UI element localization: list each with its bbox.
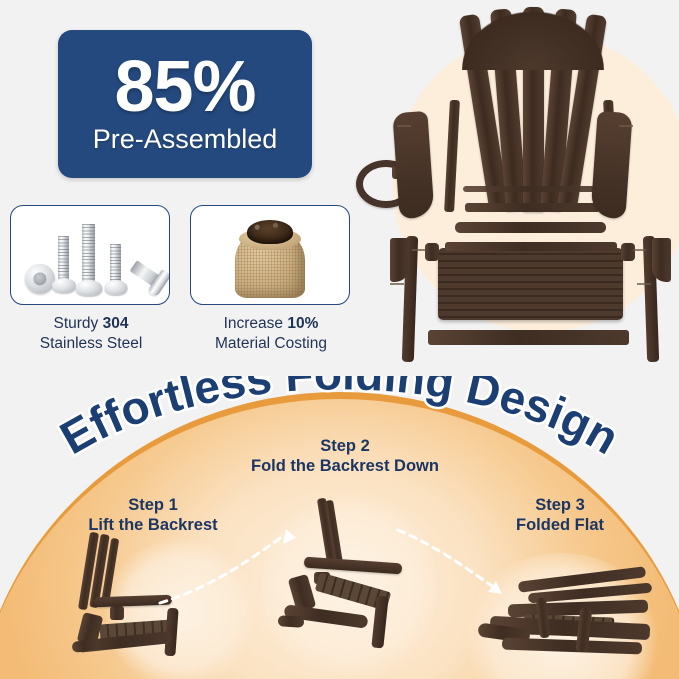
seat-slats-part: [438, 248, 623, 320]
step2-chair-photo: [278, 498, 428, 648]
caption-line1-strong: 10%: [287, 315, 318, 332]
pre-assembled-badge: 85% Pre-Assembled: [58, 30, 312, 178]
burlap-sack-of-material-icon: [190, 205, 350, 305]
caption-line2: Material Costing: [215, 335, 327, 352]
caption-line1-prefix: Increase: [224, 315, 288, 332]
product-infographic: 85% Pre-Assembled: [0, 0, 679, 679]
badge-subtitle: Pre-Assembled: [93, 124, 278, 155]
feature-card-stainless-steel: Sturdy 304 Stainless Steel: [10, 205, 172, 354]
stainless-steel-screws-icon: [10, 205, 170, 305]
caption-line1-strong: 304: [103, 315, 129, 332]
step3-chair-photo: [478, 568, 668, 678]
feature-card-material-costing: Increase 10% Material Costing: [190, 205, 352, 354]
top-section: 85% Pre-Assembled: [0, 0, 679, 378]
armrest-right-part: [590, 111, 632, 219]
step2-description: Fold the Backrest Down: [225, 456, 465, 476]
step1-label: Step 1 Lift the Backrest: [48, 495, 258, 535]
bottom-rail-part: [428, 330, 629, 345]
caption-line2: Stainless Steel: [40, 335, 143, 352]
feature-cards: Sturdy 304 Stainless Steel Increase 10% …: [10, 205, 355, 360]
step2-label: Step 2 Fold the Backrest Down: [225, 436, 465, 476]
step1-chair-photo: [58, 528, 208, 658]
step1-number: Step 1: [48, 495, 258, 515]
step3-number: Step 3: [455, 495, 665, 515]
armrest-left-part: [392, 111, 434, 219]
step3-label: Step 3 Folded Flat: [455, 495, 665, 535]
feature-caption-material-costing: Increase 10% Material Costing: [190, 314, 352, 354]
folding-design-section: Step 1 Lift the Backrest Step 2 Fold the…: [0, 378, 679, 679]
step2-number: Step 2: [225, 436, 465, 456]
feature-caption-stainless-steel: Sturdy 304 Stainless Steel: [10, 314, 172, 354]
caption-line1-prefix: Sturdy: [54, 315, 103, 332]
step1-description: Lift the Backrest: [48, 515, 258, 535]
badge-percent: 85%: [114, 53, 255, 122]
step3-description: Folded Flat: [455, 515, 665, 535]
